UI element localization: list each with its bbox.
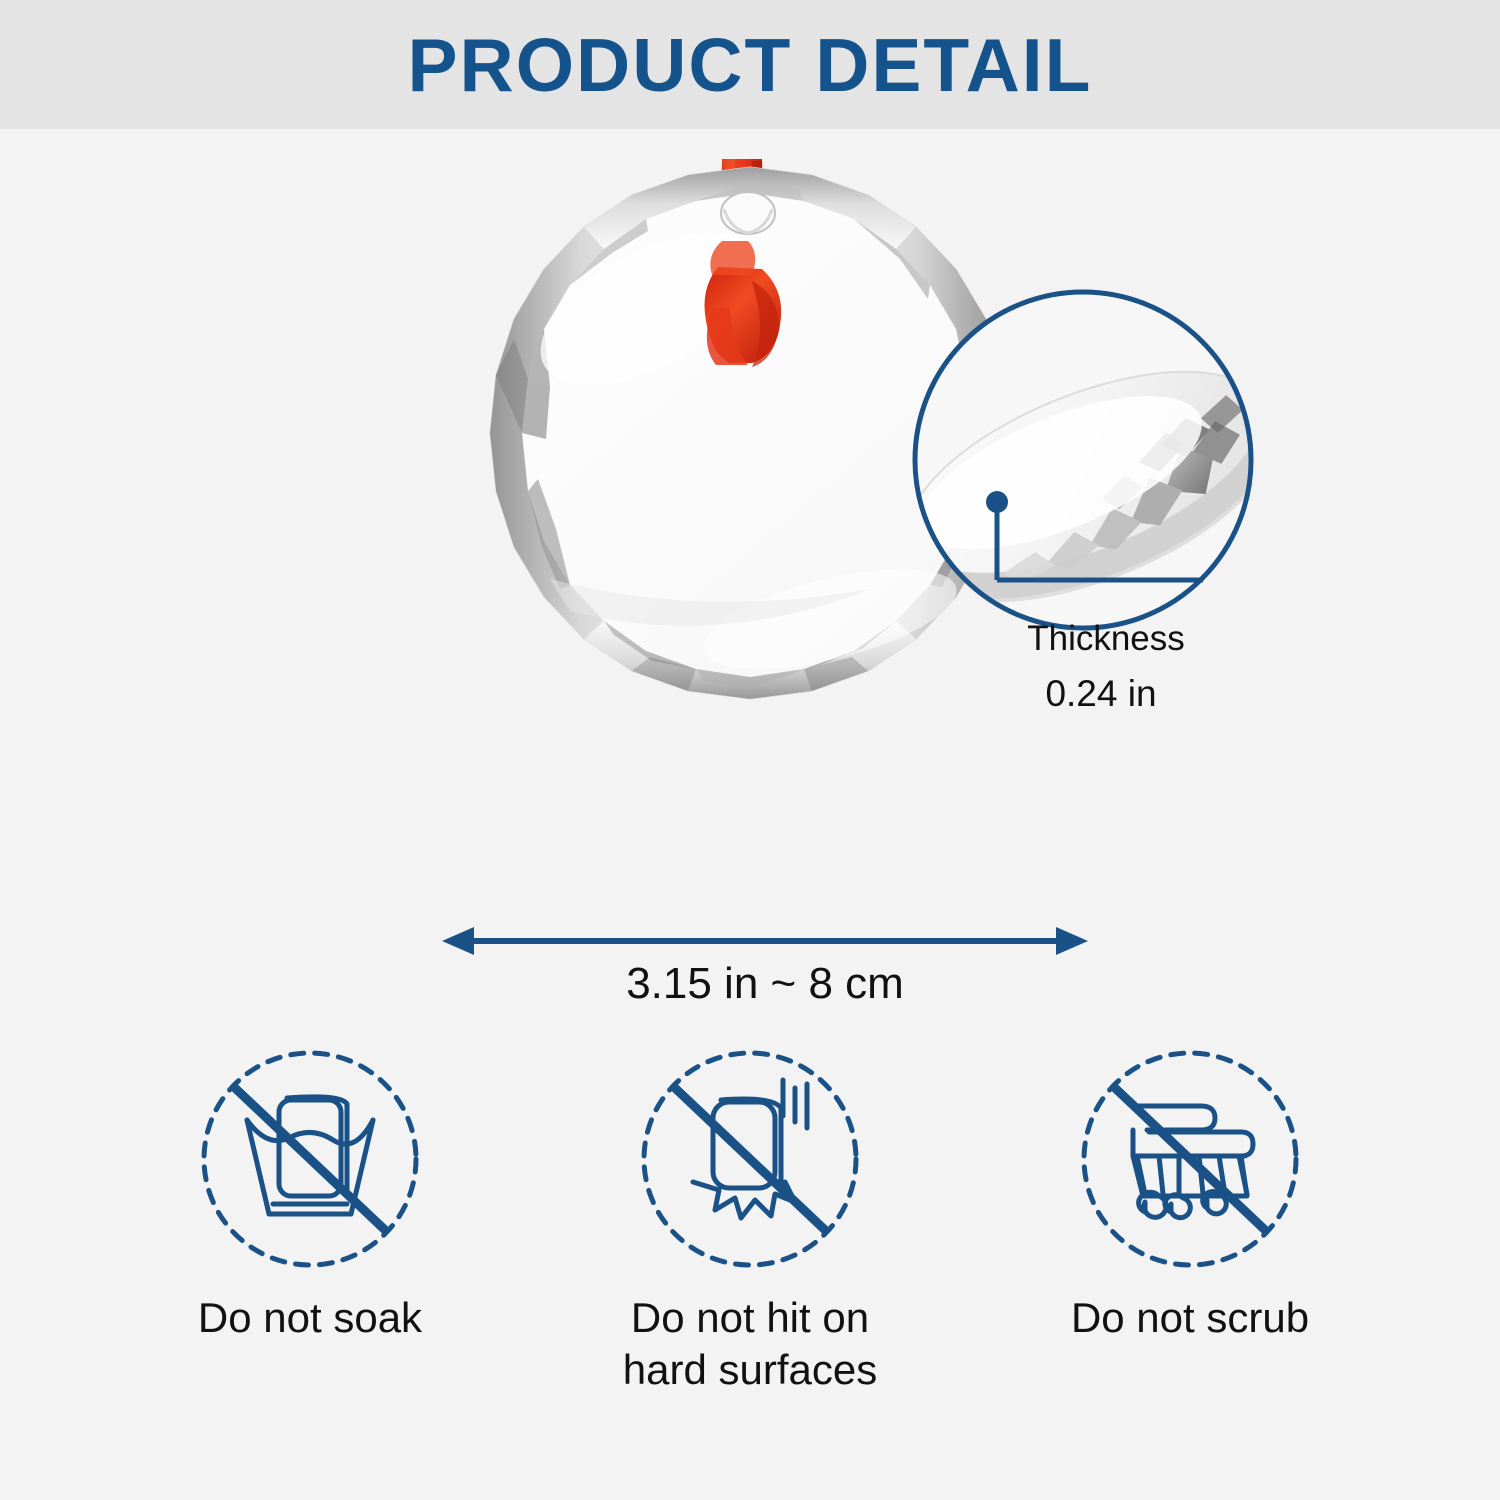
care-item-no-hit: Do not hit on hard surfaces — [530, 1044, 970, 1396]
care-item-no-scrub: Do not scrub — [970, 1044, 1410, 1344]
thickness-value: 0.24 in — [1006, 673, 1196, 715]
thickness-label: Thickness — [1011, 619, 1201, 659]
no-soak-icon — [195, 1044, 425, 1274]
no-hit-hard-surface-icon — [635, 1044, 865, 1274]
callout-magnifier — [911, 288, 1255, 632]
arrow-head-right — [1056, 927, 1088, 955]
care-item-no-soak: Do not soak — [90, 1044, 530, 1344]
arrow-head-left — [442, 927, 474, 955]
dimension-arrow — [440, 919, 1090, 959]
care-caption: Do not hit on hard surfaces — [623, 1292, 877, 1396]
care-caption: Do not scrub — [1071, 1292, 1309, 1344]
care-caption: Do not soak — [198, 1292, 422, 1344]
page-title: PRODUCT DETAIL — [0, 0, 1500, 129]
dimension-label: 3.15 in ~ 8 cm — [440, 959, 1090, 1009]
content-stage: Thickness 0.24 in 3.15 in ~ 8 cm — [0, 129, 1500, 1500]
thickness-callout: Thickness 0.24 in — [911, 288, 1255, 632]
hanging-hole — [722, 193, 774, 233]
no-scrub-brush-icon — [1075, 1044, 1305, 1274]
care-instructions-row: Do not soak Do not hit on har — [0, 1044, 1500, 1396]
width-dimension: 3.15 in ~ 8 cm — [440, 919, 1090, 1039]
